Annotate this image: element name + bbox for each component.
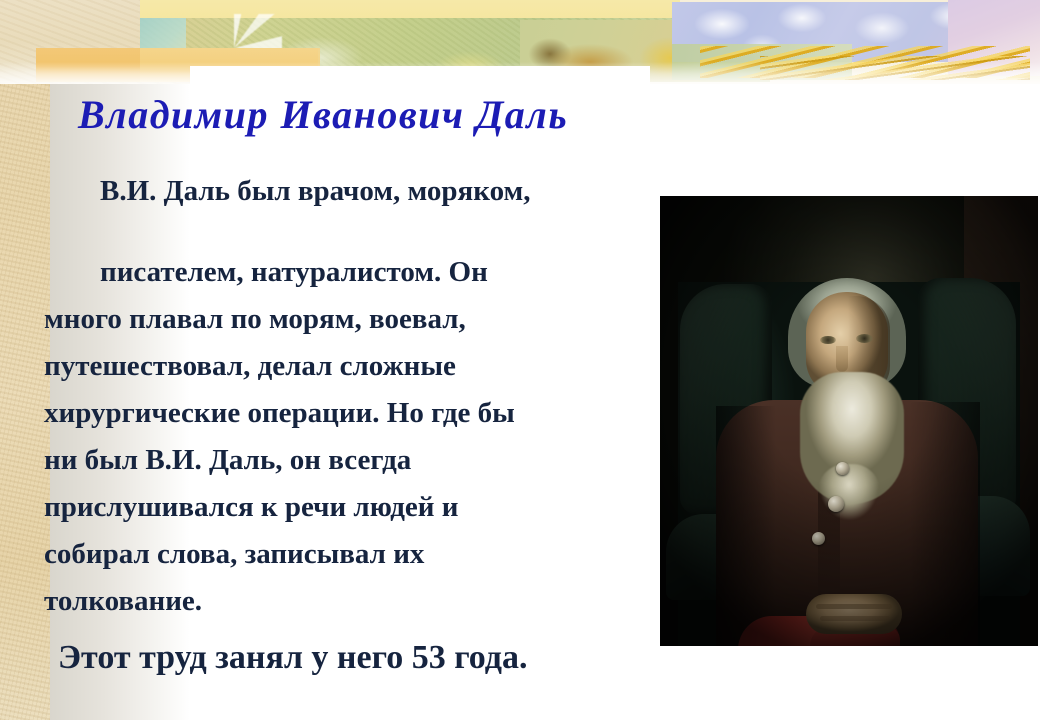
decorative-top-banner — [0, 0, 1040, 84]
body-line: прислушивался к речи людей и — [44, 484, 669, 531]
body-line: писателем, натуралистом. Он — [44, 249, 669, 296]
banner-white-notch — [190, 66, 650, 84]
left-texture-strip — [0, 0, 50, 720]
slide-body-text: В.И. Даль был врачом, моряком, писателем… — [44, 168, 669, 625]
body-line: собирал слова, записывал их — [44, 531, 669, 578]
body-line: хирургические операции. Но где бы — [44, 390, 669, 437]
body-paragraph-gap — [44, 215, 669, 249]
body-line: толкование. — [44, 578, 669, 625]
presentation-slide: Владимир Иванович Даль В.И. Даль был вра… — [0, 0, 1040, 720]
body-line: путешествовал, делал сложные — [44, 343, 669, 390]
portrait-image — [660, 196, 1038, 646]
body-line: В.И. Даль был врачом, моряком, — [44, 168, 669, 215]
slide-title: Владимир Иванович Даль — [78, 95, 718, 135]
body-line: много плавал по морям, воевал, — [44, 296, 669, 343]
body-line: ни был В.И. Даль, он всегда — [44, 437, 669, 484]
portrait-vignette — [660, 196, 1038, 646]
slide-footer-text: Этот труд занял у него 53 года. — [58, 638, 528, 677]
